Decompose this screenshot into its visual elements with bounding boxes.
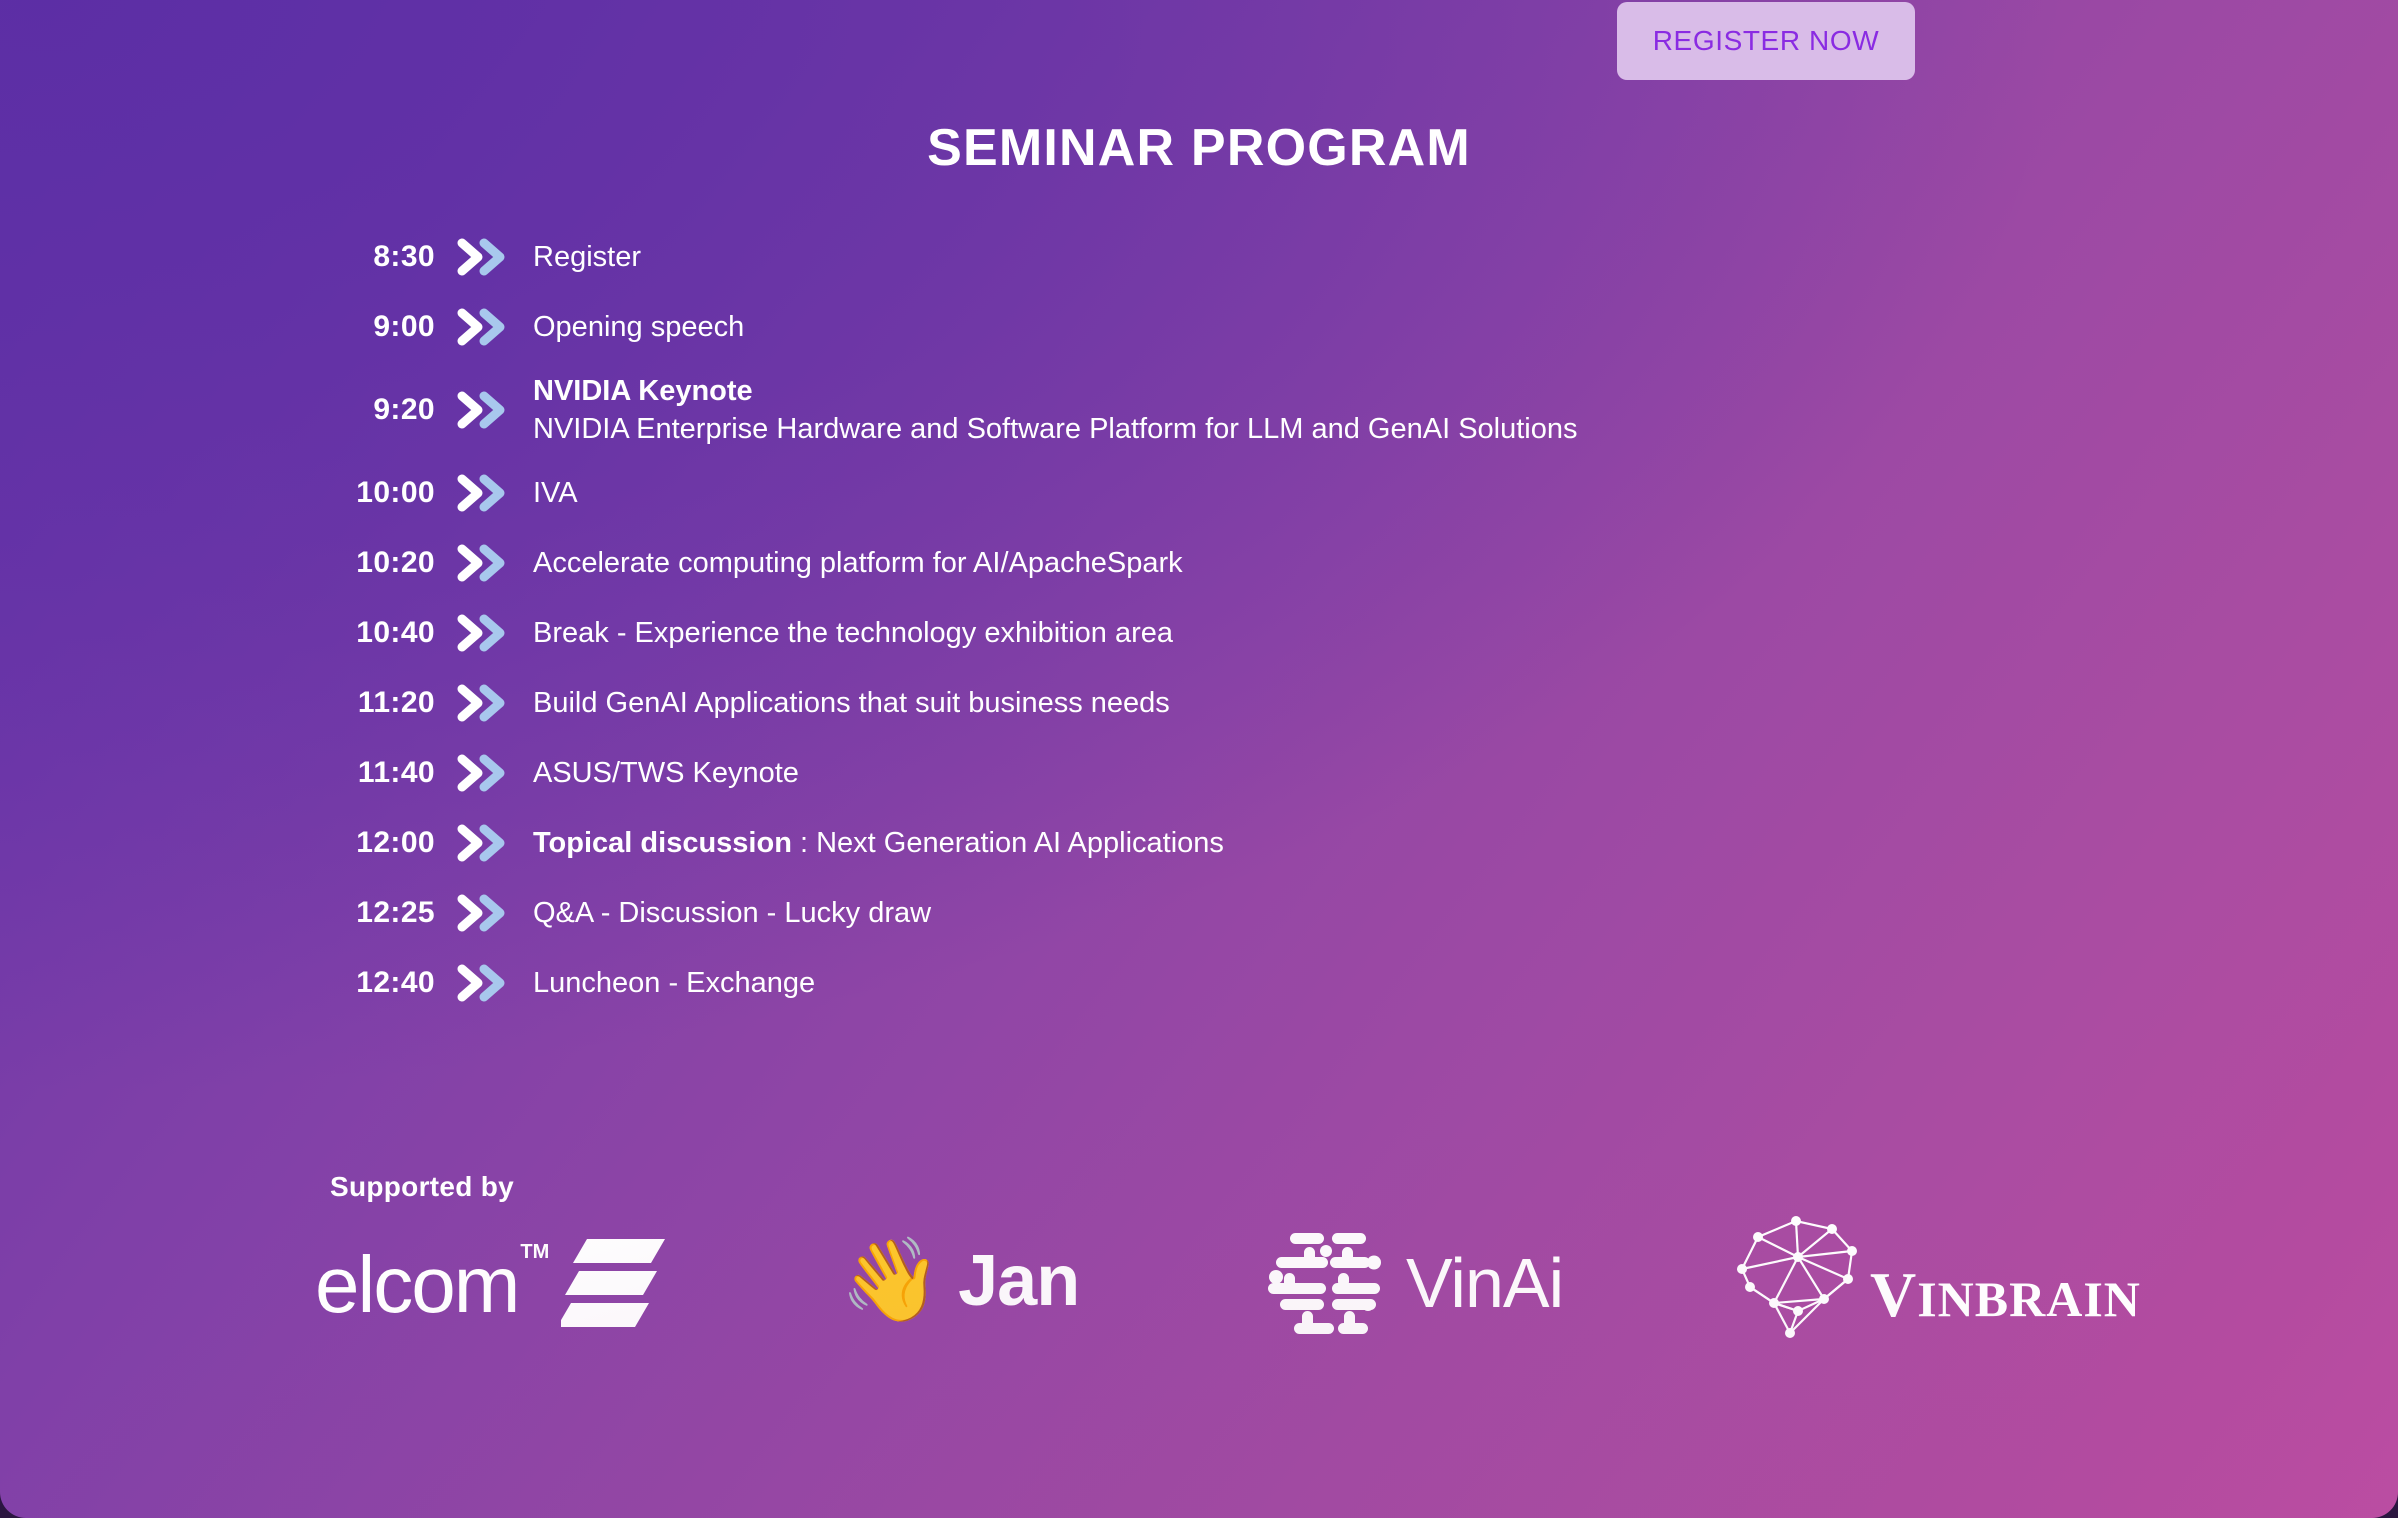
schedule-row-text: Opening speech — [533, 308, 744, 346]
schedule-row-time: 12:25 — [320, 896, 435, 930]
schedule-row-bold-prefix: Topical discussion — [533, 827, 792, 859]
schedule-row-text: Register — [533, 238, 641, 276]
schedule-row-text: Luncheon - Exchange — [533, 964, 815, 1002]
schedule-row: 9:20NVIDIA KeynoteNVIDIA Enterprise Hard… — [0, 362, 2398, 458]
elcom-wordmark: elcom — [315, 1245, 518, 1325]
double-chevron-right-icon — [456, 390, 516, 430]
double-chevron-right-icon — [456, 543, 516, 583]
schedule-row-time: 12:00 — [320, 826, 435, 860]
schedule-row-subtitle: NVIDIA Enterprise Hardware and Software … — [533, 410, 1578, 448]
schedule-row-text: Q&A - Discussion - Lucky draw — [533, 894, 931, 932]
schedule-row-time: 10:20 — [320, 546, 435, 580]
vinai-wordmark: VinAi — [1406, 1248, 1563, 1318]
double-chevron-right-icon — [456, 237, 516, 277]
double-chevron-right-icon — [456, 753, 516, 793]
schedule-row: 10:40Break - Experience the technology e… — [0, 598, 2398, 668]
schedule-row-rest: : Next Generation AI Applications — [792, 827, 1224, 859]
double-chevron-right-icon — [456, 893, 516, 933]
schedule-row: 8:30Register — [0, 222, 2398, 292]
double-chevron-right-icon — [456, 307, 516, 347]
schedule-row: 11:20Build GenAI Applications that suit … — [0, 668, 2398, 738]
register-now-button[interactable]: REGISTER NOW — [1617, 2, 1915, 80]
schedule-row-time: 11:20 — [320, 686, 435, 720]
double-chevron-right-icon — [456, 823, 516, 863]
schedule-row-text: Accelerate computing platform for AI/Apa… — [533, 544, 1183, 582]
waving-hand-emoji: 👋 — [840, 1240, 942, 1322]
schedule-row-time: 9:20 — [320, 393, 435, 427]
vinbrain-brain-mesh-icon — [1728, 1207, 1876, 1344]
elcom-e-mark-icon — [561, 1237, 665, 1334]
jan-wordmark: Jan — [958, 1245, 1079, 1317]
schedule-row: 10:00IVA — [0, 458, 2398, 528]
schedule-row-title: NVIDIA Keynote — [533, 372, 1578, 410]
double-chevron-right-icon — [456, 963, 516, 1003]
trademark-symbol: TM — [520, 1241, 549, 1264]
sponsor-logo-elcom: elcom TM — [315, 1225, 665, 1345]
schedule-row-text: IVA — [533, 474, 578, 512]
schedule-row-time: 10:40 — [320, 616, 435, 650]
sponsor-logo-vinbrain: VINBRAIN — [1728, 1215, 2141, 1335]
double-chevron-right-icon — [456, 683, 516, 723]
schedule-row-text: NVIDIA KeynoteNVIDIA Enterprise Hardware… — [533, 372, 1578, 449]
sponsor-logo-jan: 👋 Jan — [840, 1221, 1079, 1341]
schedule-row: 11:40ASUS/TWS Keynote — [0, 738, 2398, 808]
seminar-program-slide: REGISTER NOW SEMINAR PROGRAM 8:30Registe… — [0, 0, 2398, 1518]
schedule-row-time: 8:30 — [320, 240, 435, 274]
double-chevron-right-icon — [456, 613, 516, 653]
schedule-row-time: 10:00 — [320, 476, 435, 510]
vinbrain-wordmark: VINBRAIN — [1870, 1263, 2141, 1327]
double-chevron-right-icon — [456, 473, 516, 513]
schedule-row-time: 9:00 — [320, 310, 435, 344]
sponsor-logos: elcom TM 👋 Jan — [0, 1215, 2398, 1360]
schedule-row: 10:20Accelerate computing platform for A… — [0, 528, 2398, 598]
schedule-list: 8:30Register9:00Opening speech9:20NVIDIA… — [0, 222, 2398, 1018]
vinbrain-wordmark-rest: INBRAIN — [1917, 1271, 2141, 1327]
schedule-row-text: Break - Experience the technology exhibi… — [533, 614, 1173, 652]
schedule-row: 12:25Q&A - Discussion - Lucky draw — [0, 878, 2398, 948]
schedule-row-time: 11:40 — [320, 756, 435, 790]
schedule-row: 9:00Opening speech — [0, 292, 2398, 362]
supported-by-label: Supported by — [330, 1171, 514, 1203]
schedule-row-time: 12:40 — [320, 966, 435, 1000]
vinbrain-wordmark-cap: V — [1870, 1259, 1917, 1330]
vinai-circuit-mark-icon — [1268, 1227, 1388, 1340]
page-title: SEMINAR PROGRAM — [0, 118, 2398, 178]
schedule-row-text: Topical discussion : Next Generation AI … — [533, 824, 1224, 862]
sponsor-logo-vinai: VinAi — [1268, 1223, 1563, 1343]
schedule-row-text: ASUS/TWS Keynote — [533, 754, 799, 792]
schedule-row-text: Build GenAI Applications that suit busin… — [533, 684, 1170, 722]
schedule-row: 12:40Luncheon - Exchange — [0, 948, 2398, 1018]
schedule-row: 12:00Topical discussion : Next Generatio… — [0, 808, 2398, 878]
